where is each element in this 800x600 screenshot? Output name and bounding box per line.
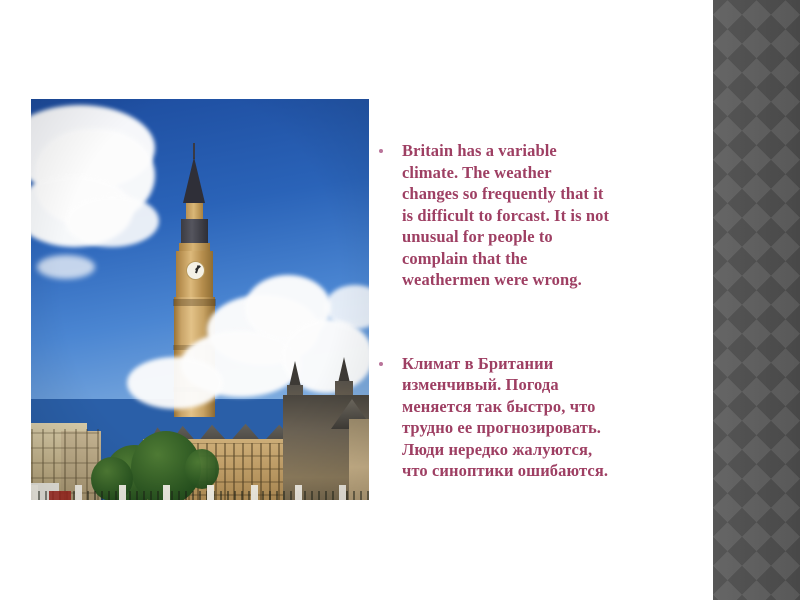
bullet-item-russian: Климат в Британии изменчивый. Погода мен… [376,353,676,482]
tower-spire [183,157,205,203]
slide-canvas: Britain has a variable climate. The weat… [0,0,800,600]
abbey-spire [289,361,301,387]
bullet-dot-icon [379,149,383,153]
red-bus [49,491,71,500]
cloud-shape [37,255,95,279]
tree-foliage [185,449,219,489]
tower-band [173,299,216,306]
bullet-text-russian: Климат в Британии изменчивый. Погода мен… [402,353,676,482]
tower-neck [186,203,203,219]
slide-body-text: Britain has a variable climate. The weat… [376,140,676,482]
bullet-dot-icon [379,362,383,366]
abbey-spire [338,357,350,383]
cloud-shape [65,195,159,247]
cloud-shape [127,357,223,409]
band-shading-overlay [713,0,800,600]
bullet-text-english: Britain has a variable climate. The weat… [402,140,676,291]
big-ben-parliament-photo [31,99,369,500]
bullet-item-english: Britain has a variable climate. The weat… [376,140,676,291]
decorative-argyle-band [713,0,800,600]
stone-posts [31,485,369,500]
